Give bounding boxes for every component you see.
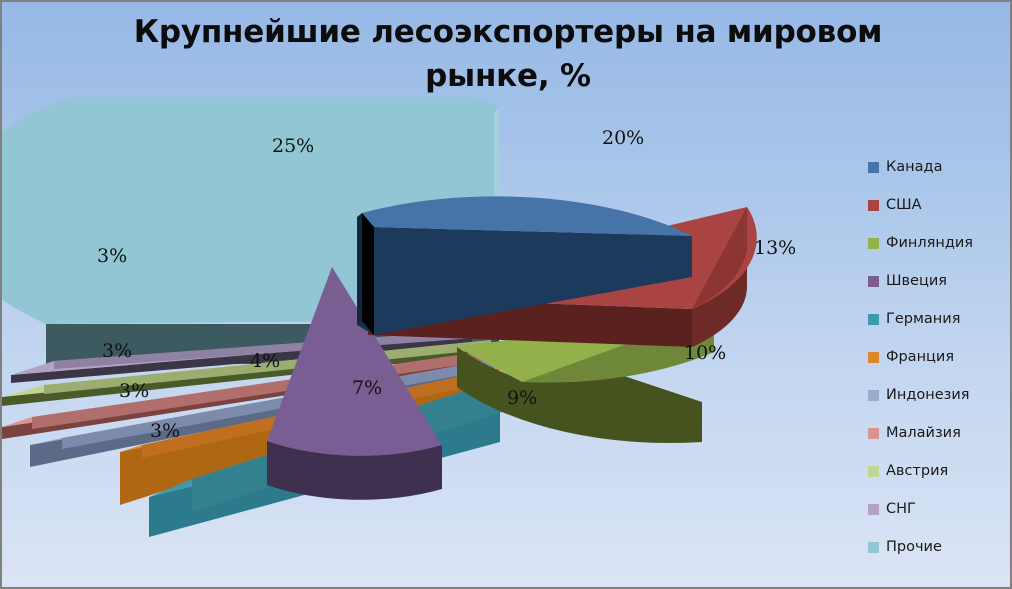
legend-item-label: Франция (886, 349, 954, 365)
legend-swatch-icon (868, 390, 879, 401)
pie-chart-plot-area[interactable]: 25% 20% 13% 10% 9% 7% 4% 3% 3% 3% 3% (2, 97, 852, 537)
legend-swatch-icon (868, 542, 879, 553)
legend-item-cis[interactable]: СНГ (868, 490, 1008, 528)
legend-item-label: Швеция (886, 273, 947, 289)
legend-item-france[interactable]: Франция (868, 338, 1008, 376)
legend-item-sweden[interactable]: Швеция (868, 262, 1008, 300)
legend-swatch-icon (868, 504, 879, 515)
legend-item-label: Индонезия (886, 387, 969, 403)
legend-item-label: Австрия (886, 463, 948, 479)
legend-swatch-icon (868, 428, 879, 439)
legend-item-austria[interactable]: Австрия (868, 452, 1008, 490)
legend-swatch-icon (868, 238, 879, 249)
legend-item-other[interactable]: Прочие (868, 528, 1008, 566)
legend-swatch-icon (868, 162, 879, 173)
legend-item-label: Прочие (886, 539, 942, 555)
legend-swatch-icon (868, 200, 879, 211)
legend-swatch-icon (868, 466, 879, 477)
legend-swatch-icon (868, 352, 879, 363)
legend-item-indonesia[interactable]: Индонезия (868, 376, 1008, 414)
legend-item-label: Германия (886, 311, 960, 327)
legend-item-germany[interactable]: Германия (868, 300, 1008, 338)
legend-item-label: США (886, 197, 922, 213)
legend-item-label: Канада (886, 159, 942, 175)
legend-item-label: СНГ (886, 501, 916, 517)
page-title: Крупнейшие лесоэкспортеры на мировом рын… (122, 10, 894, 98)
legend-item-label: Малайзия (886, 425, 961, 441)
chart-legend: Канада США Финляндия Швеция Германия Фра… (868, 148, 1008, 566)
legend-swatch-icon (868, 314, 879, 325)
legend-item-label: Финляндия (886, 235, 973, 251)
legend-item-finland[interactable]: Финляндия (868, 224, 1008, 262)
legend-item-usa[interactable]: США (868, 186, 1008, 224)
legend-swatch-icon (868, 276, 879, 287)
slide-canvas: Крупнейшие лесоэкспортеры на мировом рын… (0, 0, 1012, 589)
legend-item-canada[interactable]: Канада (868, 148, 1008, 186)
legend-item-malaysia[interactable]: Малайзия (868, 414, 1008, 452)
pie-chart-svg (2, 97, 852, 537)
